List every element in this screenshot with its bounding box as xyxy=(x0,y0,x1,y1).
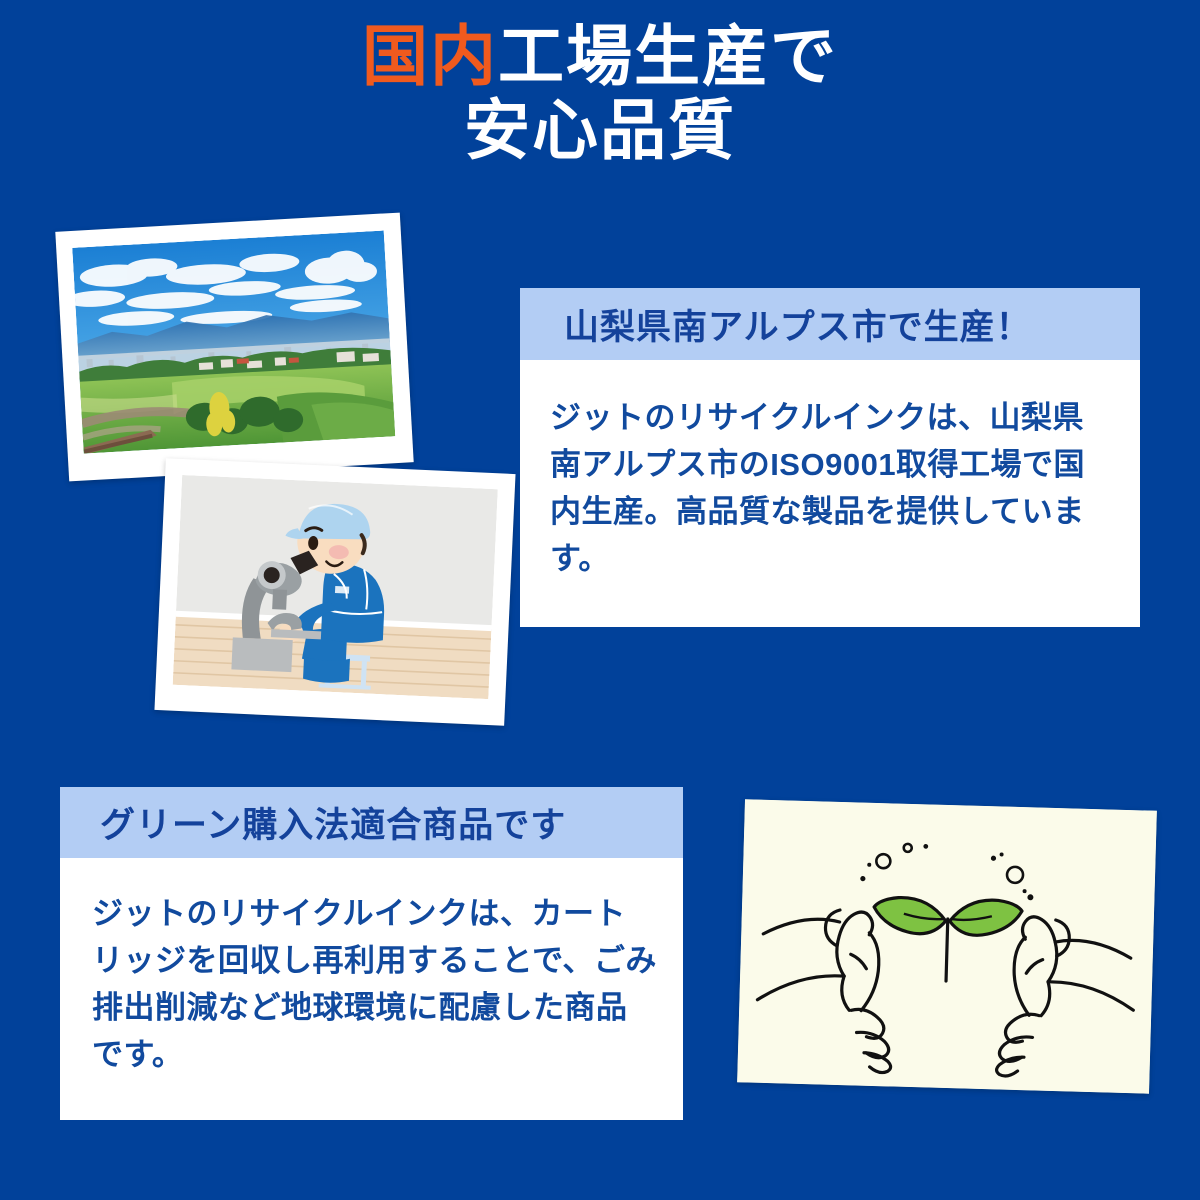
info-card-green-law: グリーン購入法適合商品です ジットのリサイクルインクは、カートリッジを回収し再利… xyxy=(60,787,683,1120)
info-card-green-law-body: ジットのリサイクルインクは、カートリッジを回収し再利用することで、ごみ排出削減な… xyxy=(60,858,683,1078)
headline-line-1: 国内工場生産で xyxy=(362,19,838,93)
landscape-photo-image xyxy=(72,230,395,453)
landscape-scene-icon xyxy=(72,230,395,453)
info-card-production-header: 山梨県南アルプス市で生産！ xyxy=(520,288,1140,360)
hands-holding-sprout-icon xyxy=(737,799,1157,1093)
headline-line-2: 安心品質 xyxy=(0,94,1200,168)
microscope-worker-icon xyxy=(173,475,498,699)
page-title: 国内工場生産で 安心品質 xyxy=(0,20,1200,168)
eco-sprout-illustration xyxy=(737,799,1157,1093)
info-card-production: 山梨県南アルプス市で生産！ ジットのリサイクルインクは、山梨県南アルプス市のIS… xyxy=(520,288,1140,627)
promo-banner: 国内工場生産で 安心品質 xyxy=(0,0,1200,1200)
headline-accent: 国内 xyxy=(362,19,498,93)
info-card-production-body: ジットのリサイクルインクは、山梨県南アルプス市のISO9001取得工場で国内生産… xyxy=(520,360,1140,582)
info-card-green-law-header: グリーン購入法適合商品です xyxy=(60,787,683,858)
lab-inspection-photo xyxy=(154,458,515,726)
headline-line-1-rest: 工場生産で xyxy=(498,19,838,93)
lab-inspection-image xyxy=(173,475,498,699)
landscape-photo xyxy=(55,213,413,482)
